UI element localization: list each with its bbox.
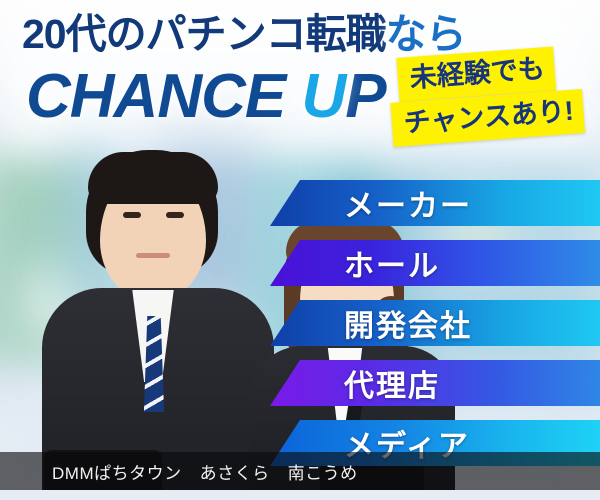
logo-chance-up: CHANCE UP bbox=[26, 66, 386, 128]
category-list: メーカー ホール 開発会社 代理店 メディア bbox=[270, 180, 600, 480]
caption-bar: DMMぱちタウン あさくら 南こうめ bbox=[0, 452, 600, 490]
banner-root: 20代のパチンコ転職なら CHANCE UP 未経験でも チャンスあり! bbox=[0, 0, 600, 500]
caption-name-2: 南こうめ bbox=[288, 459, 358, 484]
list-item-label: ホール bbox=[344, 241, 440, 285]
headline-suffix: なら bbox=[386, 11, 466, 57]
caption-name-1: あさくら bbox=[200, 459, 270, 484]
list-item-label: メーカー bbox=[344, 181, 472, 225]
logo-word-chance: CHANCE bbox=[26, 62, 285, 131]
caption-site: DMMぱちタウン bbox=[52, 459, 182, 484]
photo-man bbox=[38, 150, 278, 500]
man-mouth bbox=[136, 253, 170, 258]
logo-letter-p: P bbox=[345, 62, 385, 131]
man-eye-right bbox=[166, 212, 184, 218]
logo-letter-u: U bbox=[301, 62, 345, 131]
list-item-label: 開発会社 bbox=[344, 301, 472, 345]
bottom-strip bbox=[0, 490, 600, 500]
page-title: 20代のパチンコ転職なら bbox=[22, 14, 466, 55]
list-item-agency[interactable]: 代理店 bbox=[270, 360, 600, 406]
list-item-label: 代理店 bbox=[344, 361, 440, 405]
list-item-developer[interactable]: 開発会社 bbox=[270, 300, 600, 346]
status-badge: 未経験でも チャンスあり! bbox=[398, 56, 594, 152]
man-eye-left bbox=[123, 212, 141, 218]
list-item-maker[interactable]: メーカー bbox=[270, 180, 600, 226]
man-fringe bbox=[88, 152, 218, 204]
headline-main: 20代のパチンコ転職 bbox=[22, 11, 386, 57]
list-item-hall[interactable]: ホール bbox=[270, 240, 600, 286]
